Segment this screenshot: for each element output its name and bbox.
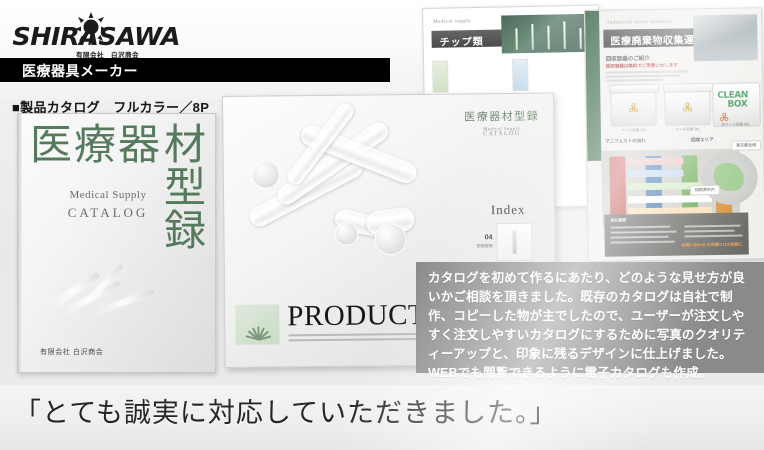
tips-section-title: チップ類 bbox=[439, 33, 483, 49]
biohazard-icon bbox=[628, 103, 638, 113]
contact-link[interactable]: お問い合わせ・お見積りはお気軽に bbox=[681, 242, 742, 249]
company-profile-footer: 会社概要 お問い合わせ・お見積りはお気軽に bbox=[604, 212, 749, 256]
tips-hero-photo bbox=[501, 14, 594, 54]
container-pail-50l: ペール容器 50L bbox=[664, 87, 711, 126]
cover-title-left: 医療器 bbox=[30, 124, 162, 166]
waste-eyebrow: Industrial waste disposal bbox=[607, 20, 672, 26]
catalog-cover[interactable]: 医療器 材型録 Medical Supply CATALOG 有限会社 白沢商会 bbox=[17, 113, 216, 373]
glass-tubes-photo bbox=[235, 123, 452, 275]
waste-hero-photo bbox=[693, 14, 758, 61]
cover-company-name: 有限会社 白沢商会 bbox=[40, 347, 103, 357]
cover-tube-photo bbox=[32, 268, 202, 338]
logo-wordmark: SHIRASAWA bbox=[12, 22, 180, 51]
spread-title-en2: CATALOG bbox=[464, 131, 539, 138]
product-thumbnail bbox=[512, 59, 529, 91]
products-sunburst-icon bbox=[235, 304, 279, 344]
index-item-number: 04 bbox=[472, 234, 492, 241]
manifest-legend: マニフェストの流れ bbox=[605, 138, 646, 145]
cover-spine bbox=[18, 114, 22, 372]
index-item-label: 試験管類 bbox=[473, 243, 493, 249]
cover-english-line2: CATALOG bbox=[53, 205, 163, 221]
clean-box-label: CLEAN BOX bbox=[717, 91, 748, 109]
service-area-map bbox=[701, 150, 758, 205]
company-profile-title: 会社概要 bbox=[610, 217, 626, 223]
spread-title-jp: 医療器材型録 bbox=[464, 108, 539, 125]
container-caption: ペール容器 20L bbox=[611, 128, 657, 134]
index-title: Index bbox=[472, 202, 544, 219]
map-pill-tokyo: 東京都全域 bbox=[731, 140, 761, 150]
index-item[interactable]: 04 試験管類 bbox=[472, 223, 544, 260]
container-pail-20l: ペール容器 20L bbox=[610, 88, 657, 127]
tips-eyebrow: Medical supply bbox=[433, 19, 471, 25]
waste-note-lines bbox=[606, 70, 688, 83]
container-caption: 段ボール容器 90L bbox=[713, 122, 759, 128]
cover-english-title: Medical Supply CATALOG bbox=[53, 189, 163, 221]
waste-subsection: 回収容器のご紹介 bbox=[606, 54, 650, 63]
page-root: SHIRASAWA 有限会社 白沢商会 医療器具メーカー ■製品カタログ フルカ… bbox=[0, 0, 764, 450]
testimonial-body: カタログを初めて作るにあたり、どのような見せ方が良いかご相談を頂きました。既存の… bbox=[428, 269, 754, 383]
index-item-thumbnail bbox=[496, 223, 532, 261]
page-headline: 「とても誠実に対応していただきました。」 bbox=[14, 391, 558, 430]
spread-title-block: 医療器材型録 Medical Supply CATALOG bbox=[464, 108, 539, 138]
company-logo[interactable]: SHIRASAWA 有限会社 白沢商会 bbox=[14, 16, 164, 58]
biohazard-icon bbox=[720, 113, 729, 122]
area-legend: 回収エリア bbox=[691, 137, 714, 143]
catalog-page-waste-disposal[interactable]: Industrial waste disposal 医療廃棄物収集運搬 回収容器… bbox=[584, 7, 764, 262]
container-clean-box: CLEAN BOX 段ボール容器 90L bbox=[712, 82, 761, 127]
green-side-bar bbox=[585, 11, 601, 161]
clean-box-line2: BOX bbox=[727, 100, 748, 109]
testimonial-panel: カタログを初めて作るにあたり、どのような見せ方が良いかご相談を頂きました。既存の… bbox=[416, 262, 764, 373]
waste-red-note: 回収容器は無料でご用意いたします bbox=[606, 63, 678, 70]
waste-section-title: 医療廃棄物収集運搬 bbox=[610, 31, 705, 47]
map-pill-sagamihara: 相模原市内 bbox=[690, 185, 720, 195]
cover-title-right: 材型録 bbox=[164, 124, 215, 252]
category-banner-label: 医療器具メーカー bbox=[22, 61, 138, 81]
biohazard-icon bbox=[682, 102, 692, 112]
product-thumbnail bbox=[432, 61, 449, 93]
cover-english-line1: Medical Supply bbox=[53, 189, 163, 201]
container-caption: ペール容器 50L bbox=[665, 127, 711, 133]
